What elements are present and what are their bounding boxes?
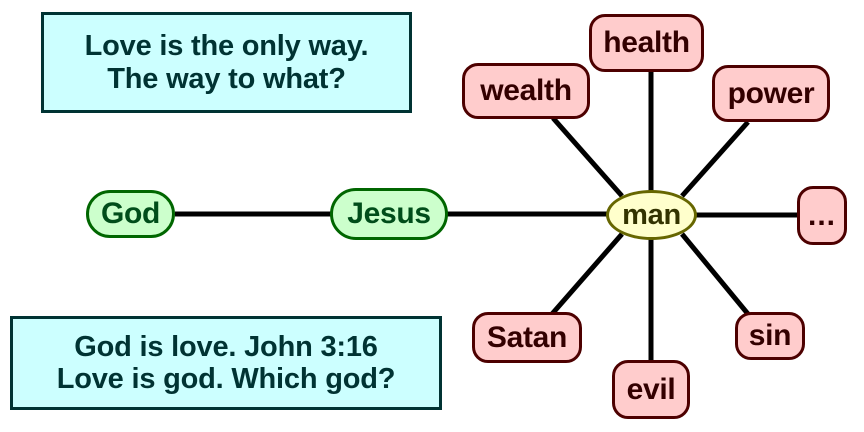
node-sin-label: sin xyxy=(749,319,791,353)
concept-map-canvas: Love is the only way. The way to what? G… xyxy=(0,0,864,432)
node-wealth[interactable]: wealth xyxy=(462,63,590,119)
node-evil-label: evil xyxy=(627,373,676,407)
node-god[interactable]: God xyxy=(86,190,175,238)
caption-top-line-1: Love is the only way. xyxy=(85,30,369,62)
node-jesus-label: Jesus xyxy=(347,197,431,231)
edge-man-wealth xyxy=(553,118,622,196)
caption-box-top: Love is the only way. The way to what? xyxy=(41,12,412,113)
node-man[interactable]: man xyxy=(606,190,697,240)
caption-bottom-line-1: God is love. John 3:16 xyxy=(74,331,377,363)
node-wealth-label: wealth xyxy=(480,74,572,108)
edge-man-power xyxy=(682,122,748,196)
node-ellipsis[interactable]: ... xyxy=(797,186,847,245)
node-power[interactable]: power xyxy=(712,65,830,122)
node-ellipsis-label: ... xyxy=(808,209,836,223)
node-god-label: God xyxy=(101,197,160,231)
node-satan-label: Satan xyxy=(487,321,567,355)
node-health[interactable]: health xyxy=(589,14,704,72)
caption-bottom-line-2: Love is god. Which god? xyxy=(57,363,396,395)
node-health-label: health xyxy=(603,26,690,60)
edge-man-sin xyxy=(682,234,748,314)
node-man-label: man xyxy=(622,199,681,232)
node-satan[interactable]: Satan xyxy=(472,312,582,363)
node-power-label: power xyxy=(728,77,815,111)
node-sin[interactable]: sin xyxy=(735,312,805,360)
edge-man-satan xyxy=(552,234,622,314)
node-evil[interactable]: evil xyxy=(612,360,690,419)
node-jesus[interactable]: Jesus xyxy=(330,188,448,240)
caption-top-line-2: The way to what? xyxy=(107,63,346,95)
caption-box-bottom: God is love. John 3:16 Love is god. Whic… xyxy=(10,316,442,410)
